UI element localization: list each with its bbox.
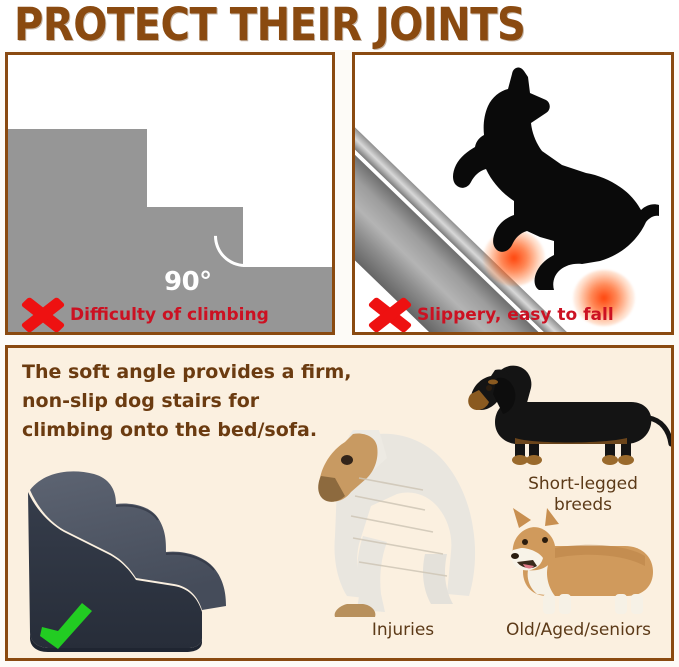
photo-corgi: [495, 508, 673, 620]
page-title: PROTECT THEIR JOINTS: [14, 0, 525, 51]
angle-label: 90°: [164, 267, 212, 297]
photo-injured-dog: [301, 386, 486, 618]
caption-line-2: breeds: [503, 495, 663, 516]
panel-solution: The soft angle provides a firm, non-slip…: [5, 345, 674, 661]
panel-difficulty-of-climbing: 90° Difficulty of climbing: [5, 52, 335, 335]
right-bad-label: Slippery, easy to fall: [417, 305, 614, 325]
caption-short-legged-breeds: Short-legged breeds: [503, 474, 663, 517]
caption-line-1: Short-legged: [503, 474, 663, 495]
desc-line-1: The soft angle provides a firm,: [22, 358, 352, 387]
ramp-scene: [355, 55, 671, 332]
infographic-root: PROTECT THEIR JOINTS 90° Difficulty of c…: [0, 0, 679, 667]
caption-injuries: Injuries: [328, 620, 478, 641]
panel-slippery-easy-to-fall: Slippery, easy to fall: [352, 52, 674, 335]
photo-dachshund: [463, 358, 674, 470]
green-check-icon: [38, 603, 92, 649]
left-bad-label: Difficulty of climbing: [70, 305, 269, 325]
caption-old-aged-seniors: Old/Aged/seniors: [476, 620, 674, 641]
title-bar: PROTECT THEIR JOINTS: [0, 0, 679, 50]
red-x-icon: [367, 295, 413, 335]
dog-silhouette-icon: [450, 65, 660, 290]
red-x-icon: [20, 295, 66, 335]
